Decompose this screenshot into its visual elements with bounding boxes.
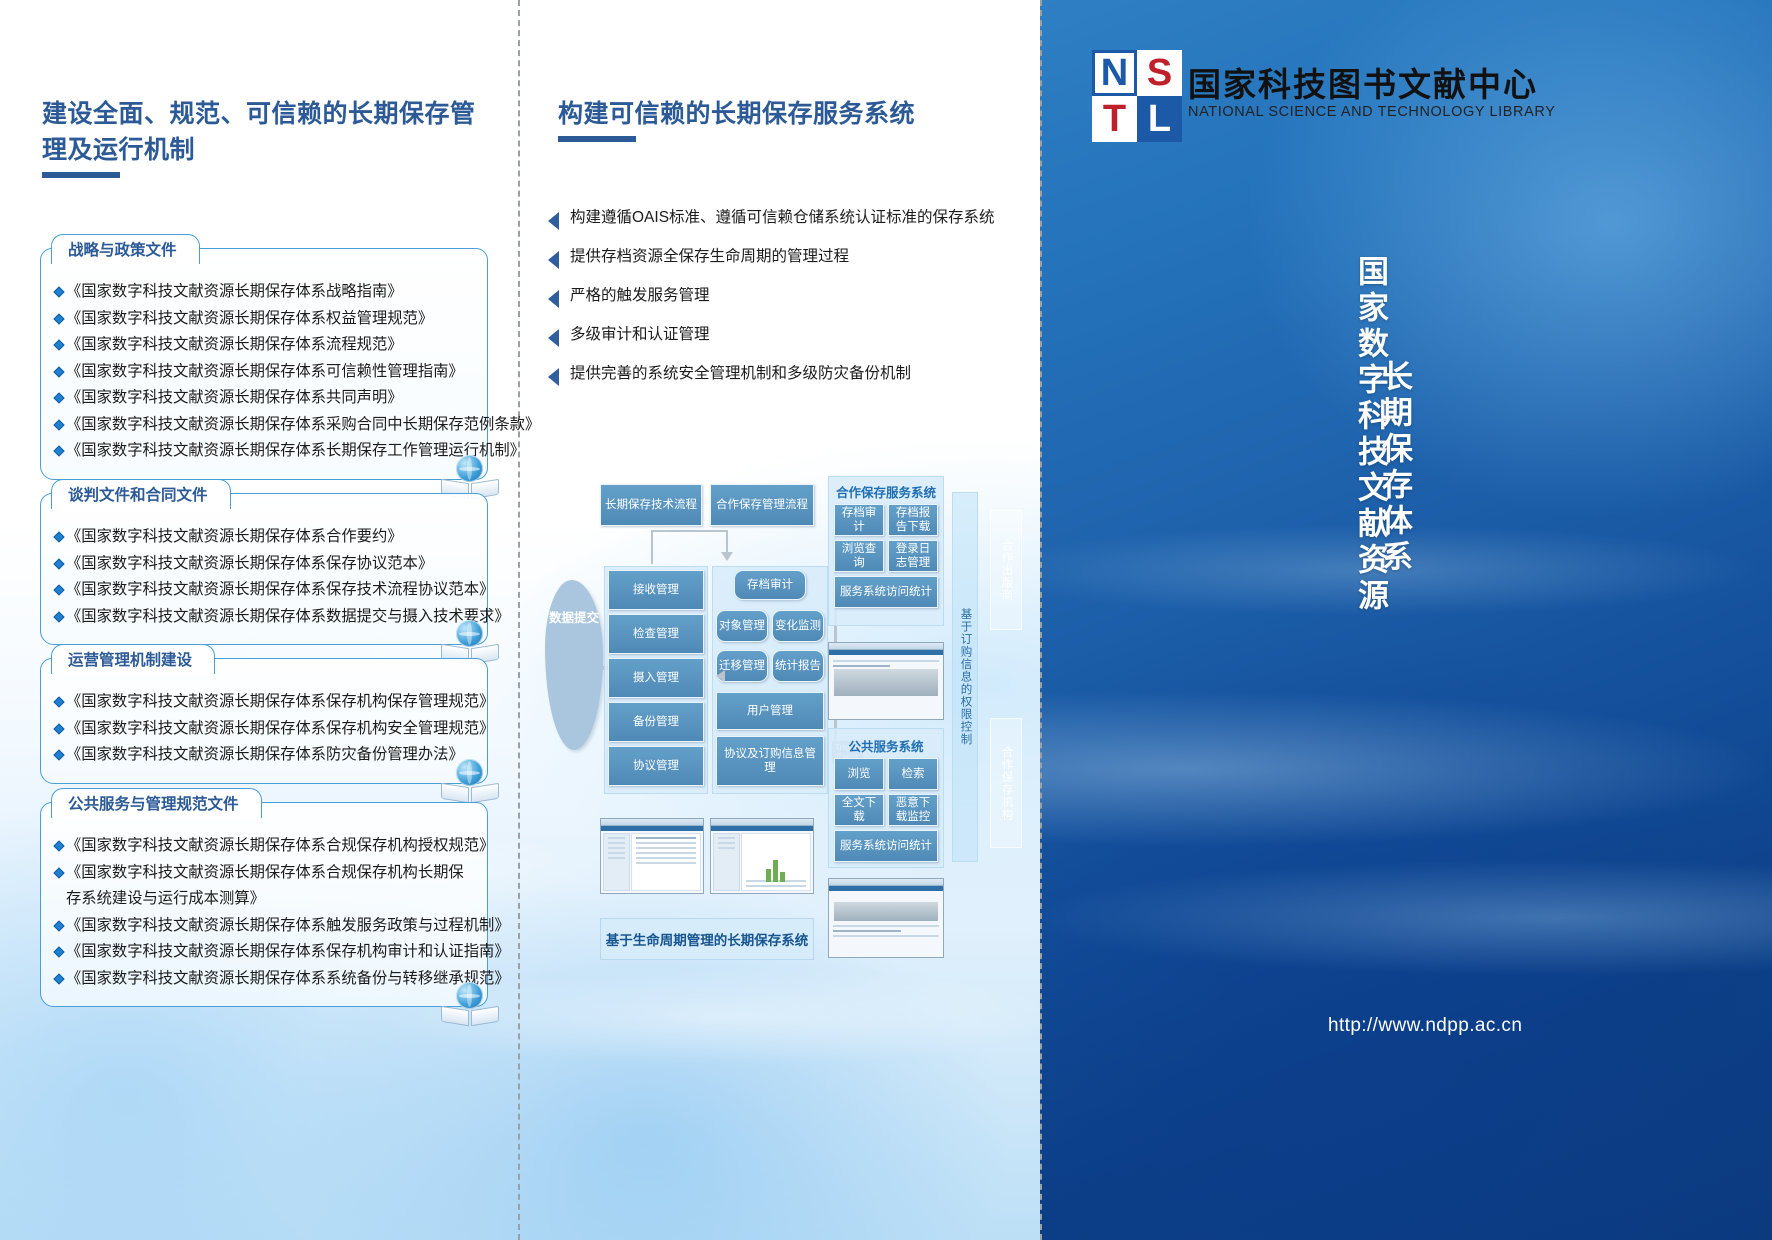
document-item-label: 《国家数字科技文献资源长期保存体系保存机构审计和认证指南》 — [66, 939, 510, 966]
diagram-connector — [651, 530, 727, 532]
document-item-label: 《国家数字科技文献资源长期保存体系合规保存机构授权规范》 — [66, 833, 494, 860]
bullet-label: 构建遵循OAIS标准、遵循可信赖仓储系统认证标准的保存系统 — [570, 206, 995, 229]
logo-letter-n: N — [1092, 50, 1137, 96]
middle-title-rule — [558, 136, 636, 142]
diagram-site-screenshot — [828, 642, 944, 720]
document-item[interactable]: 《国家数字科技文献资源长期保存体系数据提交与摄入技术要求》 — [51, 604, 475, 631]
document-item-label: 《国家数字科技文献资源长期保存体系防灾备份管理办法》 — [66, 742, 464, 769]
bullet-item: 严格的触发服务管理 — [548, 284, 1018, 308]
diamond-bullet-icon — [53, 313, 64, 324]
diamond-bullet-icon — [53, 611, 64, 622]
diagram-box-coop-flow: 合作保存管理流程 — [710, 484, 814, 526]
left-title-rule — [42, 172, 120, 178]
diagram-coop-service-title: 合作保存服务系统 — [828, 482, 944, 501]
diagram-box-fulltext-download: 全文下载 — [834, 794, 884, 826]
document-block-negotiation: 谈判文件和合同文件 《国家数字科技文献资源长期保存体系合作要约》 《国家数字科技… — [40, 493, 488, 645]
diagram-box-archive-audit: 存档审计 — [734, 570, 806, 600]
bullet-item: 提供存档资源全保存生命周期的管理过程 — [548, 245, 1018, 269]
diagram-caption: 基于生命周期管理的长期保存系统 — [600, 918, 814, 960]
document-item[interactable]: 《国家数字科技文献资源长期保存体系流程规范》 — [51, 332, 475, 359]
document-item[interactable]: 《国家数字科技文献资源长期保存体系共同声明》 — [51, 385, 475, 412]
document-item[interactable]: 《国家数字科技文献资源长期保存体系长期保存工作管理运行机制》 — [51, 438, 475, 465]
document-item-label: 《国家数字科技文献资源长期保存体系可信赖性管理指南》 — [66, 359, 464, 386]
document-item[interactable]: 《国家数字科技文献资源长期保存体系采购合同中长期保存范例条款》 — [51, 412, 475, 439]
book-globe-ornament-icon — [441, 455, 499, 499]
diagram-box-search: 检索 — [888, 758, 938, 790]
diamond-bullet-icon — [53, 867, 64, 878]
diagram-box-malicious-download-monitor: 恶意下载监控 — [888, 794, 938, 826]
fold-guide-right — [1040, 0, 1042, 1240]
diamond-bullet-icon — [53, 366, 64, 377]
diagram-box-agreement-mgmt: 协议管理 — [608, 746, 704, 786]
document-frame: 谈判文件和合同文件 《国家数字科技文献资源长期保存体系合作要约》 《国家数字科技… — [40, 493, 488, 645]
document-frame: 运营管理机制建设 《国家数字科技文献资源长期保存体系保存机构保存管理规范》 《国… — [40, 658, 488, 784]
diamond-bullet-icon — [53, 531, 64, 542]
document-block-public-service: 公共服务与管理规范文件 《国家数字科技文献资源长期保存体系合规保存机构授权规范》… — [40, 802, 488, 1007]
diagram-box-browse-query: 浏览查询 — [834, 540, 884, 572]
fold-guide-left — [518, 0, 520, 1240]
document-item[interactable]: 《国家数字科技文献资源长期保存体系合规保存机构长期保存系统建设与运行成本测算》 — [51, 860, 475, 913]
diagram-permission-control-strip: 基于订购信息的权限控制 — [952, 492, 978, 862]
bullet-item: 多级审计和认证管理 — [548, 323, 1018, 347]
diamond-bullet-icon — [53, 392, 64, 403]
arrow-bullet-icon — [548, 368, 559, 386]
diamond-bullet-icon — [53, 920, 64, 931]
diamond-bullet-icon — [53, 419, 64, 430]
document-block-tab: 公共服务与管理规范文件 — [51, 788, 262, 818]
arrow-bullet-icon — [548, 251, 559, 269]
document-item[interactable]: 《国家数字科技文献资源长期保存体系合作要约》 — [51, 524, 475, 551]
diagram-arrowhead — [716, 670, 725, 682]
arrow-bullet-icon — [548, 329, 559, 347]
book-globe-ornament-icon — [441, 982, 499, 1026]
document-block-tab: 谈判文件和合同文件 — [51, 479, 231, 509]
logo-letter-t: T — [1092, 96, 1137, 142]
arrow-bullet-icon — [548, 290, 559, 308]
diagram-box-agreement-order-info: 协议及订购信息管理 — [716, 736, 824, 786]
diagram-cloud-data-submit: 数据提交 — [545, 580, 603, 750]
document-frame: 公共服务与管理规范文件 《国家数字科技文献资源长期保存体系合规保存机构授权规范》… — [40, 802, 488, 1007]
document-item-label: 《国家数字科技文献资源长期保存体系保存协议范本》 — [66, 551, 433, 578]
diagram-box-coop-archive-audit: 存档审计 — [834, 504, 884, 536]
document-item-label: 《国家数字科技文献资源长期保存体系合规保存机构长期保存系统建设与运行成本测算》 — [66, 860, 475, 913]
document-item[interactable]: 《国家数字科技文献资源长期保存体系保存协议范本》 — [51, 551, 475, 578]
document-item-label: 《国家数字科技文献资源长期保存体系战略指南》 — [66, 279, 403, 306]
bullet-label: 严格的触发服务管理 — [570, 284, 710, 307]
bullet-label: 多级审计和认证管理 — [570, 323, 710, 346]
document-item-label: 《国家数字科技文献资源长期保存体系保存机构保存管理规范》 — [66, 689, 494, 716]
document-item-label: 《国家数字科技文献资源长期保存体系保存技术流程协议范本》 — [66, 577, 494, 604]
document-item[interactable]: 《国家数字科技文献资源长期保存体系保存机构安全管理规范》 — [51, 716, 475, 743]
diagram-box-login-log-mgmt: 登录日志管理 — [888, 540, 938, 572]
diagram-cloud-label: 数据提交 — [545, 608, 603, 629]
diagram-connector — [651, 530, 653, 564]
diamond-bullet-icon — [53, 973, 64, 984]
diamond-bullet-icon — [53, 339, 64, 350]
nstl-logo: N S T L — [1092, 50, 1182, 142]
diagram-box-ingest-mgmt: 摄入管理 — [608, 658, 704, 698]
website-url: http://www.ndpp.ac.cn — [1328, 1015, 1522, 1037]
document-item[interactable]: 《国家数字科技文献资源长期保存体系保存技术流程协议范本》 — [51, 577, 475, 604]
diagram-box-object-mgmt: 对象管理 — [716, 610, 768, 642]
document-item[interactable]: 《国家数字科技文献资源长期保存体系可信赖性管理指南》 — [51, 359, 475, 386]
document-item[interactable]: 《国家数字科技文献资源长期保存体系战略指南》 — [51, 279, 475, 306]
organization-name-cn: 国家科技图书文献中心 — [1188, 58, 1538, 106]
document-item-label: 《国家数字科技文献资源长期保存体系保存机构安全管理规范》 — [66, 716, 494, 743]
diagram-portal-screenshot — [828, 878, 944, 958]
document-item-label: 《国家数字科技文献资源长期保存体系流程规范》 — [66, 332, 403, 359]
diagram-public-service-title: 公共服务系统 — [828, 736, 944, 755]
diagram-box-check-mgmt: 检查管理 — [608, 614, 704, 654]
bullet-item: 提供完善的系统安全管理机制和多级防灾备份机制 — [548, 362, 1018, 386]
document-block-strategy: 战略与政策文件 《国家数字科技文献资源长期保存体系战略指南》 《国家数字科技文献… — [40, 248, 488, 480]
diagram-coop-publisher-strip: 合作出版商 — [990, 510, 1022, 630]
middle-bullet-list: 构建遵循OAIS标准、遵循可信赖仓储系统认证标准的保存系统 提供存档资源全保存生… — [548, 206, 1018, 401]
diagram-arrowhead — [721, 552, 733, 561]
brochure-page: 建设全面、规范、可信赖的长期保存管理及运行机制 战略与政策文件 《国家数字科技文… — [0, 0, 1772, 1240]
diamond-bullet-icon — [53, 558, 64, 569]
diagram-box-preservation-flow: 长期保存技术流程 — [600, 484, 702, 526]
diamond-bullet-icon — [53, 749, 64, 760]
document-item-label: 《国家数字科技文献资源长期保存体系共同声明》 — [66, 385, 403, 412]
diamond-bullet-icon — [53, 584, 64, 595]
diamond-bullet-icon — [53, 723, 64, 734]
document-frame: 战略与政策文件 《国家数字科技文献资源长期保存体系战略指南》 《国家数字科技文献… — [40, 248, 488, 480]
document-block-tab: 战略与政策文件 — [51, 234, 200, 264]
diagram-box-statistics-report: 统计报告 — [772, 650, 824, 682]
diagram-admin-screenshot-2 — [710, 818, 814, 894]
diagram-box-public-access-stats: 服务系统访问统计 — [834, 830, 938, 862]
document-item[interactable]: 《国家数字科技文献资源长期保存体系系统备份与转移继承规范》 — [51, 966, 475, 993]
diagram-box-coop-access-stats: 服务系统访问统计 — [834, 576, 938, 608]
cover-vertical-subtitle: 长期保存体系 — [1372, 360, 1417, 640]
organization-name-en: NATIONAL SCIENCE AND TECHNOLOGY LIBRARY — [1188, 104, 1555, 120]
bullet-item: 构建遵循OAIS标准、遵循可信赖仓储系统认证标准的保存系统 — [548, 206, 1018, 230]
diamond-bullet-icon — [53, 445, 64, 456]
document-block-operations: 运营管理机制建设 《国家数字科技文献资源长期保存体系保存机构保存管理规范》 《国… — [40, 658, 488, 784]
document-item-label: 《国家数字科技文献资源长期保存体系权益管理规范》 — [66, 306, 433, 333]
diamond-bullet-icon — [53, 286, 64, 297]
diamond-bullet-icon — [53, 946, 64, 957]
document-item[interactable]: 《国家数字科技文献资源长期保存体系触发服务政策与过程机制》 — [51, 913, 475, 940]
document-item[interactable]: 《国家数字科技文献资源长期保存体系保存机构审计和认证指南》 — [51, 939, 475, 966]
middle-panel-title: 构建可信赖的长期保存服务系统 — [558, 96, 988, 132]
left-panel-title: 建设全面、规范、可信赖的长期保存管理及运行机制 — [42, 96, 482, 168]
arrow-bullet-icon — [548, 212, 559, 230]
diagram-box-user-mgmt: 用户管理 — [716, 692, 824, 730]
document-item[interactable]: 《国家数字科技文献资源长期保存体系防灾备份管理办法》 — [51, 742, 475, 769]
document-item-label: 《国家数字科技文献资源长期保存体系触发服务政策与过程机制》 — [66, 913, 510, 940]
diagram-coop-institution-strip: 合作保存机构 — [990, 718, 1022, 848]
system-architecture-diagram: 长期保存技术流程 合作保存管理流程 数据提交 接收管理 检查管理 摄入管理 备份… — [540, 470, 1040, 990]
logo-letter-l: L — [1137, 96, 1182, 142]
diamond-bullet-icon — [53, 696, 64, 707]
diamond-bullet-icon — [53, 840, 64, 851]
diagram-box-receive-mgmt: 接收管理 — [608, 570, 704, 610]
document-item[interactable]: 《国家数字科技文献资源长期保存体系权益管理规范》 — [51, 306, 475, 333]
document-item[interactable]: 《国家数字科技文献资源长期保存体系合规保存机构授权规范》 — [51, 833, 475, 860]
document-item-label: 《国家数字科技文献资源长期保存体系合作要约》 — [66, 524, 403, 551]
diagram-box-archive-report-download: 存档报告下载 — [888, 504, 938, 536]
document-item[interactable]: 《国家数字科技文献资源长期保存体系保存机构保存管理规范》 — [51, 689, 475, 716]
diagram-box-browse: 浏览 — [834, 758, 884, 790]
document-item-label: 《国家数字科技文献资源长期保存体系采购合同中长期保存范例条款》 — [66, 412, 540, 439]
logo-letter-s: S — [1137, 50, 1182, 96]
diagram-box-change-monitor: 变化监测 — [772, 610, 824, 642]
diagram-box-backup-mgmt: 备份管理 — [608, 702, 704, 742]
document-block-tab: 运营管理机制建设 — [51, 644, 215, 674]
book-globe-ornament-icon — [441, 759, 499, 803]
diagram-admin-screenshot-1 — [600, 818, 704, 894]
diagram-connector — [726, 530, 728, 554]
bullet-label: 提供完善的系统安全管理机制和多级防灾备份机制 — [570, 362, 911, 385]
bullet-label: 提供存档资源全保存生命周期的管理过程 — [570, 245, 849, 268]
